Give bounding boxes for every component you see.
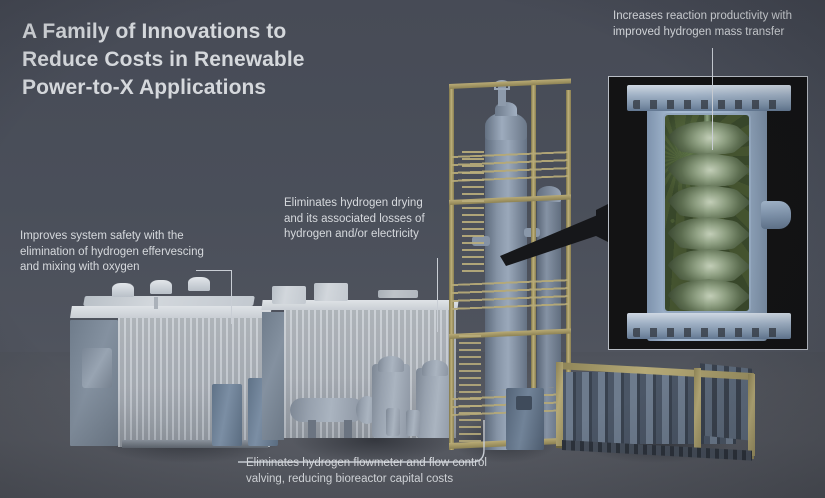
roof-vent-3 [188,277,210,291]
canopy-post [154,297,158,309]
callout-left: Improves system safety with the eliminat… [20,229,235,276]
left-container-door-hatch [82,348,112,388]
callout-line: and its associated losses of [284,212,449,228]
rooftop-unit-1 [272,286,306,304]
leader-line-top-right-v2 [712,78,713,150]
vertical-tank-a-dome [378,356,404,372]
leader-line-top-right-v1 [712,48,713,78]
vertical-tank-b-dome [422,360,448,376]
walkway-rail-lower [452,279,568,310]
bioreactor-inset-panel [608,76,808,350]
title-line-3: Power-to-X Applications [22,74,352,102]
rooftop-unit-2 [314,283,348,301]
roof-vent-1 [112,283,134,297]
callout-line: Improves system safety with the [20,229,235,245]
roof-vent-2 [150,280,172,294]
callout-line: valving, reducing bioreactor capital cos… [246,472,536,488]
callout-line: Eliminates hydrogen drying [284,196,449,212]
ladder-cage-upper [462,146,484,272]
column-dome-top [485,112,527,140]
rooftop-duct [378,290,418,298]
callout-line: Eliminates hydrogen flowmeter and flow c… [246,456,536,472]
flange-bolts [633,328,785,337]
reactor-flange-bottom [627,313,791,339]
flange-bolts [633,100,785,109]
horizontal-tank [290,398,364,422]
callout-line: and mixing with oxygen [20,260,235,276]
callout-line: hydrogen and/or electricity [284,227,449,243]
callout-line: Increases reaction productivity with [613,9,818,25]
leader-line-left-v [231,270,232,324]
callout-line: elimination of hydrogen effervescing [20,245,235,261]
callout-line: improved hydrogen mass transfer [613,25,818,41]
leader-line-middle-v [437,258,438,332]
rack-post-right [748,374,755,456]
slide-canvas: A Family of Innovations to Reduce Costs … [0,0,825,498]
callout-top-right: Increases reaction productivity with imp… [613,9,818,40]
title-line-1: A Family of Innovations to [22,18,352,46]
callout-bottom: Eliminates hydrogen flowmeter and flow c… [246,456,536,487]
flow-control-panel [516,396,532,410]
page-title: A Family of Innovations to Reduce Costs … [22,18,352,102]
callout-middle: Eliminates hydrogen drying and its assoc… [284,196,449,243]
left-container-canopy [83,296,255,306]
reactor-viewing-window [663,113,751,313]
rack-post-mid [694,368,701,452]
title-line-2: Reduce Costs in Renewable [22,46,352,74]
reactor-side-nozzle [761,201,791,229]
reactor-flange-top [627,85,791,111]
left-container-roof [70,306,272,318]
